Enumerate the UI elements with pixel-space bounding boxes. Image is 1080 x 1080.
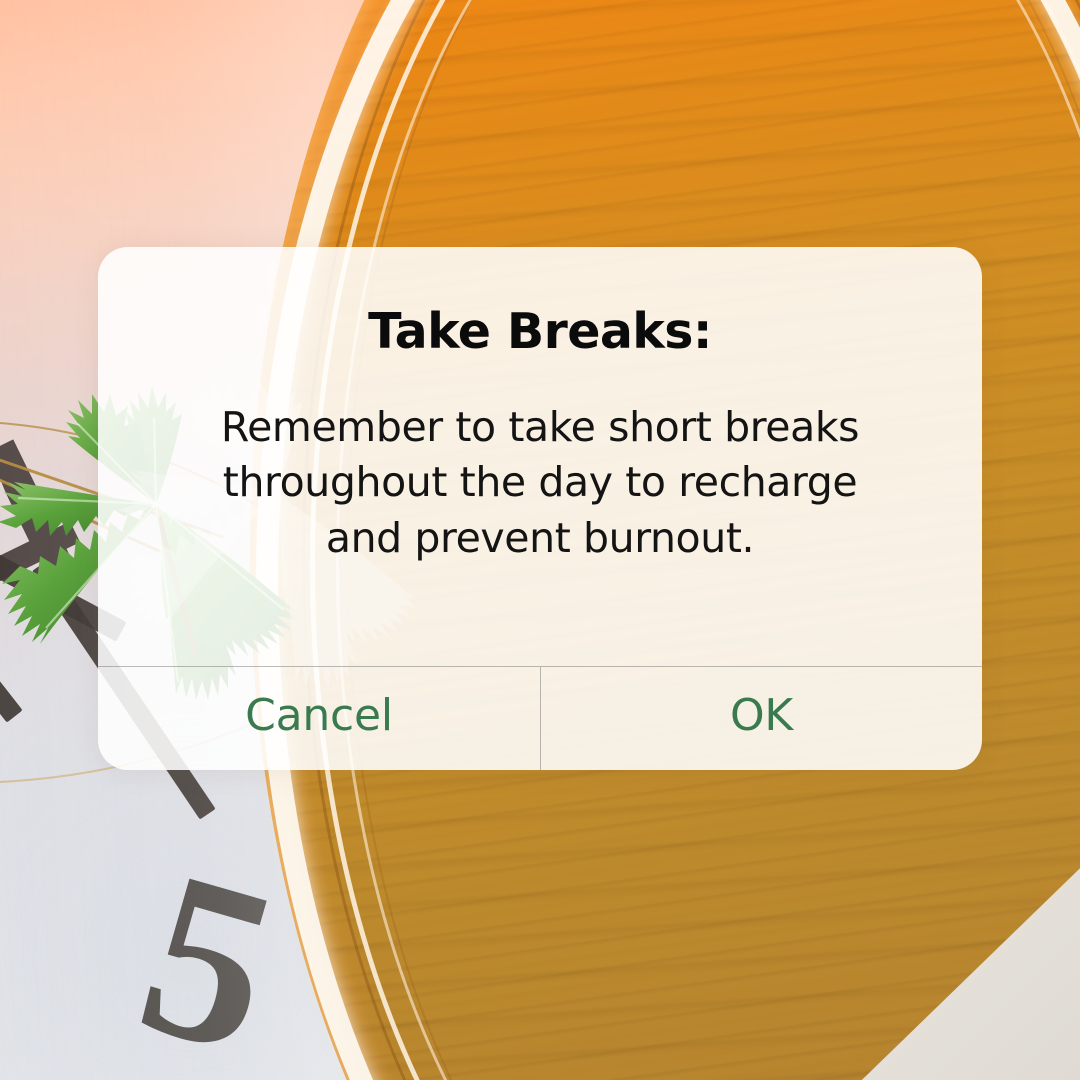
cancel-button[interactable]: Cancel [98,667,540,770]
dialog-message: Remember to take short breaks throughout… [215,400,865,566]
dialog-title: Take Breaks: [144,305,936,359]
dialog-button-row: Cancel OK [98,666,982,770]
ok-button[interactable]: OK [540,667,982,770]
dialog-content: Take Breaks: Remember to take short brea… [98,247,982,666]
alert-dialog: Take Breaks: Remember to take short brea… [98,247,982,770]
screenshot-root: 2 3 4 5 4 15 20 [0,0,1080,1080]
